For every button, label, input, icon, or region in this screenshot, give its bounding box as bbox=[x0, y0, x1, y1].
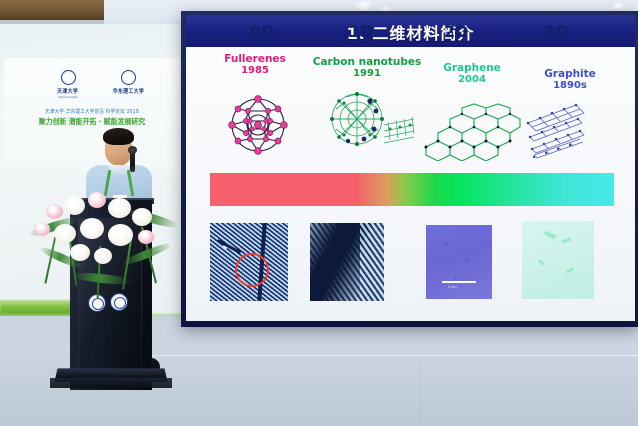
floor-seam-2 bbox=[0, 398, 638, 399]
flower-white-2 bbox=[108, 198, 131, 218]
ceiling-light-5 bbox=[612, 3, 625, 9]
tem-crack-line-2 bbox=[217, 239, 241, 254]
banner-logo-row: 天津大学 Tianjin University 华东理工大学 bbox=[38, 70, 158, 104]
flower-white-1 bbox=[64, 196, 85, 215]
university-logo-tju: 天津大学 Tianjin University bbox=[53, 70, 83, 104]
flower-pink-2 bbox=[88, 192, 106, 208]
fullerene-ball-icon bbox=[224, 91, 292, 159]
tju-name-cn: 天津大学 bbox=[58, 87, 79, 95]
column-name-graphite: Graphite bbox=[522, 68, 618, 80]
podium-base-plinth bbox=[50, 378, 172, 388]
university-logo-ecust: 华东理工大学 bbox=[113, 70, 143, 104]
speaker-hair bbox=[103, 128, 134, 145]
tju-name-en: Tianjin University bbox=[58, 96, 78, 99]
ecust-seal-icon bbox=[121, 70, 136, 85]
column-year-fullerenes: 1985 bbox=[202, 65, 308, 77]
dimension-label-2d: 2D bbox=[444, 22, 468, 41]
flower-white-7 bbox=[70, 244, 90, 261]
floor-seam-1 bbox=[150, 355, 638, 356]
conference-photo-scene: 天津大学 Tianjin University 华东理工大学 天津大学·华东理工… bbox=[0, 0, 638, 426]
dimension-label-1d: 1D bbox=[349, 22, 373, 41]
micrograph-row: 5 μm bbox=[186, 215, 635, 315]
graphite-flake-image bbox=[522, 221, 594, 299]
graphene-afm-image: 5 μm bbox=[426, 225, 492, 299]
column-name-fullerenes: Fullerenes bbox=[202, 53, 308, 65]
banner-headline-line: 聚力创新 潜能开拓 · 赋能发展研究 bbox=[18, 116, 165, 127]
flower-pink-3 bbox=[34, 222, 50, 236]
column-header-fullerenes: Fullerenes 1985 bbox=[202, 53, 308, 77]
column-header-nanotubes: Carbon nanotubes 1991 bbox=[306, 56, 428, 80]
floral-arrangement bbox=[28, 188, 178, 308]
floor-seam-vertical bbox=[420, 356, 421, 426]
hrtem-dark-band bbox=[310, 223, 360, 301]
column-header-graphene: Graphene 2004 bbox=[424, 62, 520, 86]
dimension-label-3d: 3D bbox=[544, 22, 568, 41]
ceiling-light-1 bbox=[355, 1, 372, 10]
ecust-name-cn: 华东理工大学 bbox=[112, 87, 143, 95]
dimension-label-0d: 0D bbox=[250, 22, 274, 41]
column-year-nanotubes: 1991 bbox=[306, 68, 428, 80]
afm-scale-bar bbox=[442, 281, 476, 283]
flower-white-5 bbox=[80, 218, 104, 239]
flower-white-8 bbox=[94, 248, 112, 264]
afm-scale-label: 5 μm bbox=[448, 285, 457, 289]
flower-white-3 bbox=[132, 208, 152, 226]
projection-screen: 1. 二维材料简介 Fullerenes 1985 Carbon nanotub… bbox=[186, 15, 635, 321]
flower-pink-4 bbox=[138, 230, 154, 244]
graphene-sheet-icon bbox=[422, 103, 522, 161]
backdrop-banner: 天津大学 Tianjin University 华东理工大学 天津大学·华东理工… bbox=[4, 58, 180, 170]
column-name-graphene: Graphene bbox=[424, 62, 520, 74]
graphite-stack-icon bbox=[522, 101, 622, 163]
flower-white-6 bbox=[108, 224, 133, 246]
wooden-soffit bbox=[0, 0, 104, 22]
fullerene-tem-image bbox=[210, 223, 288, 301]
flower-pink-1 bbox=[46, 204, 63, 219]
red-circle-annotation bbox=[235, 253, 269, 287]
column-year-graphene: 2004 bbox=[424, 74, 520, 86]
nanotube-hrtem-image bbox=[310, 223, 384, 301]
molecular-structure-row bbox=[186, 87, 635, 167]
nanotube-icon bbox=[324, 89, 416, 161]
presentation-slide: 1. 二维材料简介 Fullerenes 1985 Carbon nanotub… bbox=[186, 15, 635, 321]
tju-seal-icon bbox=[61, 70, 76, 85]
graphite-flake-shape bbox=[528, 226, 588, 294]
dimensionality-gradient-bar bbox=[210, 173, 614, 206]
banner-subtitle-line: 天津大学·华东理工大学前沿 科学论坛 2018 bbox=[18, 108, 165, 115]
microphone-head-icon bbox=[128, 146, 137, 154]
column-name-nanotubes: Carbon nanotubes bbox=[306, 56, 428, 68]
flower-white-4 bbox=[54, 224, 76, 243]
